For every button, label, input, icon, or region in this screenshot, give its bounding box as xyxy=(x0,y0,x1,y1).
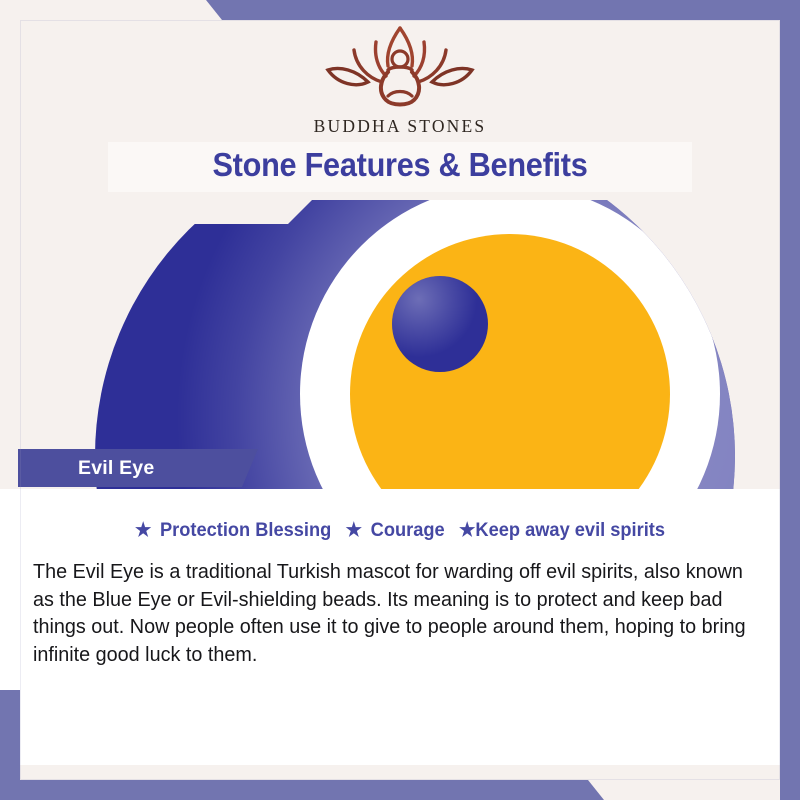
benefits-row: ★Protection Blessing★Courage★Keep away e… xyxy=(16,519,784,542)
frame-bottom-band xyxy=(0,780,800,800)
infographic-card: BUDDHA STONES Stone Features & Benefits … xyxy=(0,0,800,800)
brand-name: BUDDHA STONES xyxy=(0,116,800,137)
eye-bottom-mask xyxy=(0,489,800,495)
lotus-meditation-icon xyxy=(316,22,484,114)
eye-pupil xyxy=(392,276,488,372)
benefit-item-0: Protection Blessing xyxy=(160,520,331,541)
star-icon: ★ xyxy=(346,520,362,541)
description-text: The Evil Eye is a traditional Turkish ma… xyxy=(33,558,749,668)
pupil-gloss xyxy=(392,276,488,372)
benefit-item-1: Courage xyxy=(371,520,445,541)
product-label-text: Evil Eye xyxy=(78,457,154,480)
star-icon: ★ xyxy=(459,520,475,541)
frame-right-band xyxy=(780,0,800,800)
star-icon: ★ xyxy=(135,520,151,541)
benefit-item-2: Keep away evil spirits xyxy=(475,520,665,541)
product-label-banner: Evil Eye xyxy=(18,449,258,487)
brand-logo: BUDDHA STONES xyxy=(0,22,800,137)
page-title: Stone Features & Benefits xyxy=(28,146,772,184)
